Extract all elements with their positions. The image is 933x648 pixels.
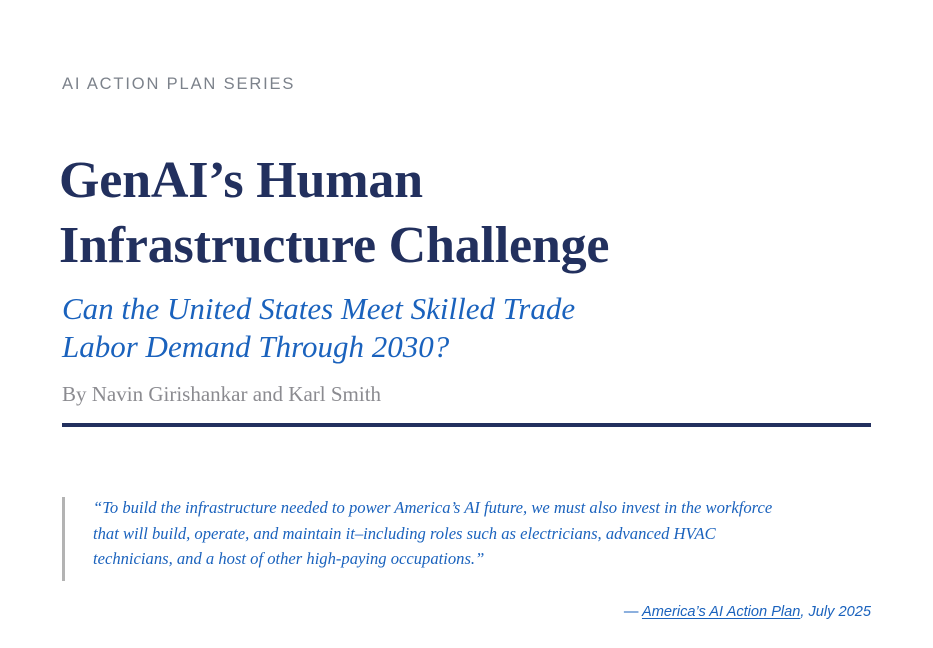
attribution-em-dash: — xyxy=(624,604,639,620)
page-title: GenAI’s Human Infrastructure Challenge xyxy=(59,148,879,278)
page-title-line-1: GenAI’s Human xyxy=(59,148,879,213)
page-subtitle-line-1: Can the United States Meet Skilled Trade xyxy=(62,290,762,328)
quote-attribution: — America’s AI Action Plan, July 2025 xyxy=(62,604,871,620)
page-subtitle-line-2: Labor Demand Through 2030? xyxy=(62,328,762,366)
pull-quote-line-2: that will build, operate, and maintain i… xyxy=(93,521,853,547)
page-subtitle: Can the United States Meet Skilled Trade… xyxy=(62,290,762,366)
pull-quote-accent-bar xyxy=(62,497,65,581)
series-eyebrow: AI ACTION PLAN SERIES xyxy=(62,75,295,94)
pull-quote-line-3: technicians, and a host of other high-pa… xyxy=(93,546,853,572)
header-divider-rule xyxy=(62,423,871,427)
byline: By Navin Girishankar and Karl Smith xyxy=(62,382,381,407)
document-page: AI ACTION PLAN SERIES GenAI’s Human Infr… xyxy=(0,0,933,648)
page-title-line-2: Infrastructure Challenge xyxy=(59,213,879,278)
pull-quote-text: “To build the infrastructure needed to p… xyxy=(62,495,853,572)
pull-quote-line-1: “To build the infrastructure needed to p… xyxy=(93,495,853,521)
pull-quote-block: “To build the infrastructure needed to p… xyxy=(62,495,871,572)
attribution-date: , July 2025 xyxy=(800,604,871,620)
attribution-source-link[interactable]: America’s AI Action Plan xyxy=(642,604,800,620)
